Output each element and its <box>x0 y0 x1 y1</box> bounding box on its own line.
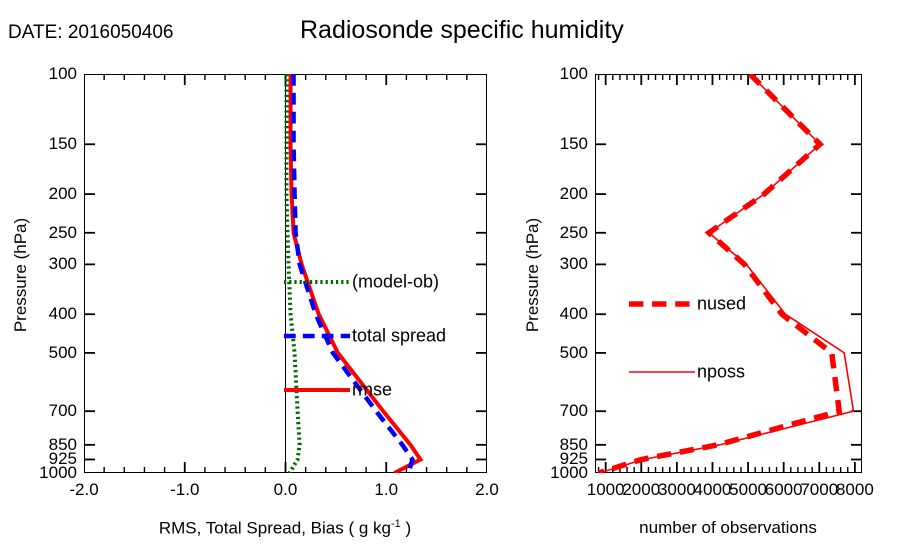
y-tick-label: 150 <box>560 134 588 154</box>
x-tick-label: 1.0 <box>374 480 398 500</box>
y-tick-label: 100 <box>49 64 77 84</box>
y-tick-label: 500 <box>49 343 77 363</box>
right-x-axis-title: number of observations <box>639 518 817 538</box>
x-tick-label: 2.0 <box>475 480 499 500</box>
y-tick-label: 700 <box>49 401 77 421</box>
x-tick-label: 0.0 <box>274 480 298 500</box>
legend-label-rmse: rmse <box>352 380 392 401</box>
x-tick-label: 2000 <box>622 480 660 500</box>
series-line-nposs <box>599 74 853 473</box>
x-tick-label: 1000 <box>587 480 625 500</box>
y-tick-label: 200 <box>49 184 77 204</box>
y-tick-label: 150 <box>49 134 77 154</box>
series-line-nused <box>599 74 840 473</box>
left-x-axis-title-exponent: -1 <box>391 518 401 530</box>
y-tick-label: 200 <box>560 184 588 204</box>
y-tick-label: 400 <box>49 304 77 324</box>
y-tick-label: 300 <box>49 254 77 274</box>
x-tick-label: 8000 <box>836 480 874 500</box>
x-tick-label: 6000 <box>765 480 803 500</box>
right-chart-panel: 1001502002503004005007008509251000 10002… <box>595 74 862 473</box>
legend-label-total_spread: total spread <box>352 326 446 347</box>
y-tick-label: 400 <box>560 304 588 324</box>
left-chart-panel: 1001502002503004005007008509251000 -2.0-… <box>84 74 487 473</box>
x-tick-label: -2.0 <box>69 480 98 500</box>
left-y-axis-title: Pressure (hPa) <box>11 205 31 345</box>
x-tick-label: -1.0 <box>170 480 199 500</box>
chart-page: DATE: 2016050406 Radiosonde specific hum… <box>0 0 900 560</box>
y-tick-label: 500 <box>560 343 588 363</box>
legend-label-nposs: nposs <box>697 362 745 383</box>
legend-label-nused: nused <box>697 294 746 315</box>
y-tick-label: 100 <box>560 64 588 84</box>
x-tick-label: 3000 <box>658 480 696 500</box>
left-x-axis-title-text: RMS, Total Spread, Bias ( g kg <box>159 519 391 538</box>
legend-label-model_minus_ob: (model-ob) <box>352 272 439 293</box>
left-x-axis-title-tail: ) <box>401 519 411 538</box>
right-plot-canvas <box>595 74 862 473</box>
y-tick-label: 700 <box>560 401 588 421</box>
left-x-axis-title: RMS, Total Spread, Bias ( g kg-1 ) <box>159 518 411 539</box>
date-label: DATE: 2016050406 <box>8 22 174 44</box>
x-tick-label: 4000 <box>694 480 732 500</box>
right-y-axis-title: Pressure (hPa) <box>523 205 543 345</box>
page-title: Radiosonde specific humidity <box>300 16 624 45</box>
y-tick-label: 250 <box>560 223 588 243</box>
y-tick-label: 1000 <box>550 463 588 483</box>
y-tick-label: 300 <box>560 254 588 274</box>
y-tick-label: 250 <box>49 223 77 243</box>
x-tick-label: 5000 <box>729 480 767 500</box>
x-tick-label: 7000 <box>800 480 838 500</box>
